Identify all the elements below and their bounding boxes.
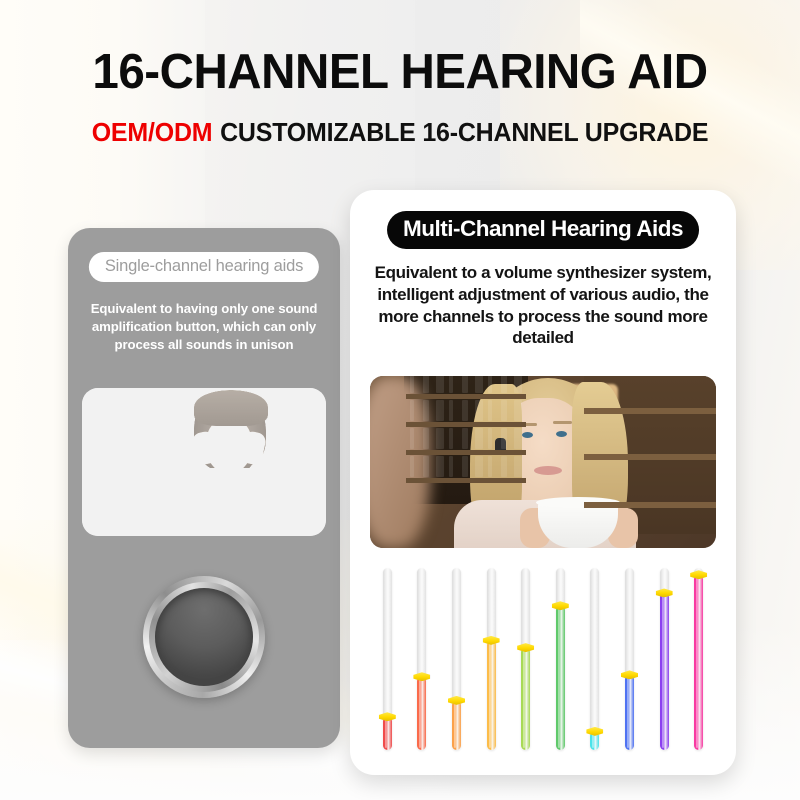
shelf-book	[488, 428, 492, 449]
eq-slider-10[interactable]	[693, 568, 704, 750]
equalizer-sliders[interactable]	[370, 568, 716, 750]
eq-slider-handle[interactable]	[483, 636, 500, 645]
eq-slider-fill	[487, 641, 496, 750]
eq-slider-fill	[625, 675, 634, 750]
eq-slider-9[interactable]	[659, 568, 670, 750]
eq-slider-1[interactable]	[382, 568, 393, 750]
right-eye	[556, 431, 567, 437]
shelf-book	[423, 400, 429, 421]
eq-slider-handle[interactable]	[586, 727, 603, 736]
volume-knob[interactable]	[143, 576, 265, 698]
shelf-plank	[406, 478, 526, 483]
shelf-book	[501, 400, 507, 421]
shelf-book	[436, 428, 444, 449]
single-channel-description: Equivalent to having only one sound ampl…	[82, 300, 326, 355]
shelf-book	[514, 376, 522, 393]
shelf-book	[449, 456, 453, 477]
foreground-blur	[370, 376, 430, 548]
eq-slider-fill	[660, 593, 669, 750]
single-channel-badge-label: Single-channel hearing aids	[105, 257, 303, 275]
header: 16-CHANNEL HEARING AID OEM/ODMCUSTOMIZAB…	[0, 0, 800, 148]
shelf-plank-right	[584, 408, 716, 414]
eq-slider-handle[interactable]	[552, 601, 569, 610]
subtitle-rest: CUSTOMIZABLE 16-CHANNEL UPGRADE	[220, 117, 708, 147]
eq-slider-fill	[417, 677, 426, 750]
shelf-book	[514, 400, 522, 421]
shelf-plank	[406, 394, 526, 399]
eq-slider-fill	[452, 701, 461, 750]
left-eye	[522, 432, 533, 438]
shelf-book	[423, 428, 429, 449]
eq-slider-handle[interactable]	[413, 672, 430, 681]
window-frame	[126, 396, 131, 504]
single-channel-card: Single-channel hearing aids Equivalent t…	[68, 228, 340, 748]
shelf-plank-right	[584, 502, 716, 508]
shelf-book	[436, 456, 444, 477]
shelf-book	[475, 400, 483, 421]
shelf-book	[436, 400, 444, 421]
page-subtitle: OEM/ODMCUSTOMIZABLE 16-CHANNEL UPGRADE	[16, 117, 784, 148]
shelf-book	[475, 456, 483, 477]
eq-slider-fill	[694, 575, 703, 750]
single-channel-badge: Single-channel hearing aids	[89, 252, 319, 282]
eq-slider-handle[interactable]	[448, 696, 465, 705]
multi-channel-badge-label: Multi-Channel Hearing Aids	[403, 216, 683, 241]
shelf-book	[410, 400, 414, 421]
shelf-book	[462, 400, 468, 421]
shelf-book	[423, 376, 429, 393]
shelf-book	[488, 376, 492, 393]
shelf-plank	[406, 422, 526, 427]
eq-slider-handle[interactable]	[517, 643, 534, 652]
eq-slider-6[interactable]	[555, 568, 566, 750]
eq-slider-4[interactable]	[486, 568, 497, 750]
eq-slider-handle[interactable]	[379, 712, 396, 721]
eq-slider-8[interactable]	[624, 568, 635, 750]
page-title: 16-CHANNEL HEARING AID	[12, 48, 788, 97]
shelf-book	[462, 376, 468, 393]
eq-slider-fill	[521, 648, 530, 750]
shelf-book	[436, 376, 444, 393]
multi-channel-description: Equivalent to a volume synthesizer syste…	[366, 262, 720, 349]
subtitle-highlight: OEM/ODM	[92, 117, 213, 147]
frustrated-woman-illustration	[82, 388, 326, 536]
shelf-book	[475, 428, 483, 449]
right-brow	[553, 421, 572, 424]
eq-slider-2[interactable]	[416, 568, 427, 750]
shelf-plank-right	[584, 454, 716, 460]
window-pane	[112, 402, 152, 498]
shelf-book	[410, 376, 414, 393]
eq-slider-7[interactable]	[589, 568, 600, 750]
shelf-book	[449, 428, 453, 449]
eq-slider-fill	[556, 606, 565, 750]
shelf-book	[475, 376, 483, 393]
shelf-book	[410, 456, 414, 477]
eq-slider-handle[interactable]	[690, 570, 707, 579]
shelf-book	[462, 456, 468, 477]
knob-face	[155, 588, 253, 686]
eq-slider-track[interactable]	[590, 568, 599, 750]
shelf-book	[449, 400, 453, 421]
eq-slider-handle[interactable]	[621, 670, 638, 679]
multi-channel-card: Multi-Channel Hearing Aids Equivalent to…	[350, 190, 736, 775]
multi-channel-badge: Multi-Channel Hearing Aids	[387, 211, 699, 249]
lips-shape	[534, 466, 562, 475]
shelf-book	[514, 428, 522, 449]
shelf-book	[462, 428, 468, 449]
shelf-book	[488, 400, 492, 421]
eq-slider-5[interactable]	[520, 568, 531, 750]
eq-slider-fill	[383, 717, 392, 750]
eq-slider-handle[interactable]	[656, 588, 673, 597]
shelf-book	[449, 376, 453, 393]
single-channel-photo	[82, 388, 326, 536]
shelf-book	[501, 428, 507, 449]
multi-channel-photo	[370, 376, 716, 548]
shelf-book	[501, 376, 507, 393]
shelf-book	[410, 428, 414, 449]
shelf-book	[488, 456, 492, 477]
shelf-book	[514, 456, 522, 477]
shelf-plank	[406, 450, 526, 455]
shelf-book	[423, 456, 429, 477]
hair-front-shape	[194, 390, 268, 426]
eq-slider-3[interactable]	[451, 568, 462, 750]
shelf-book	[501, 456, 507, 477]
smiling-woman-illustration	[370, 376, 716, 548]
